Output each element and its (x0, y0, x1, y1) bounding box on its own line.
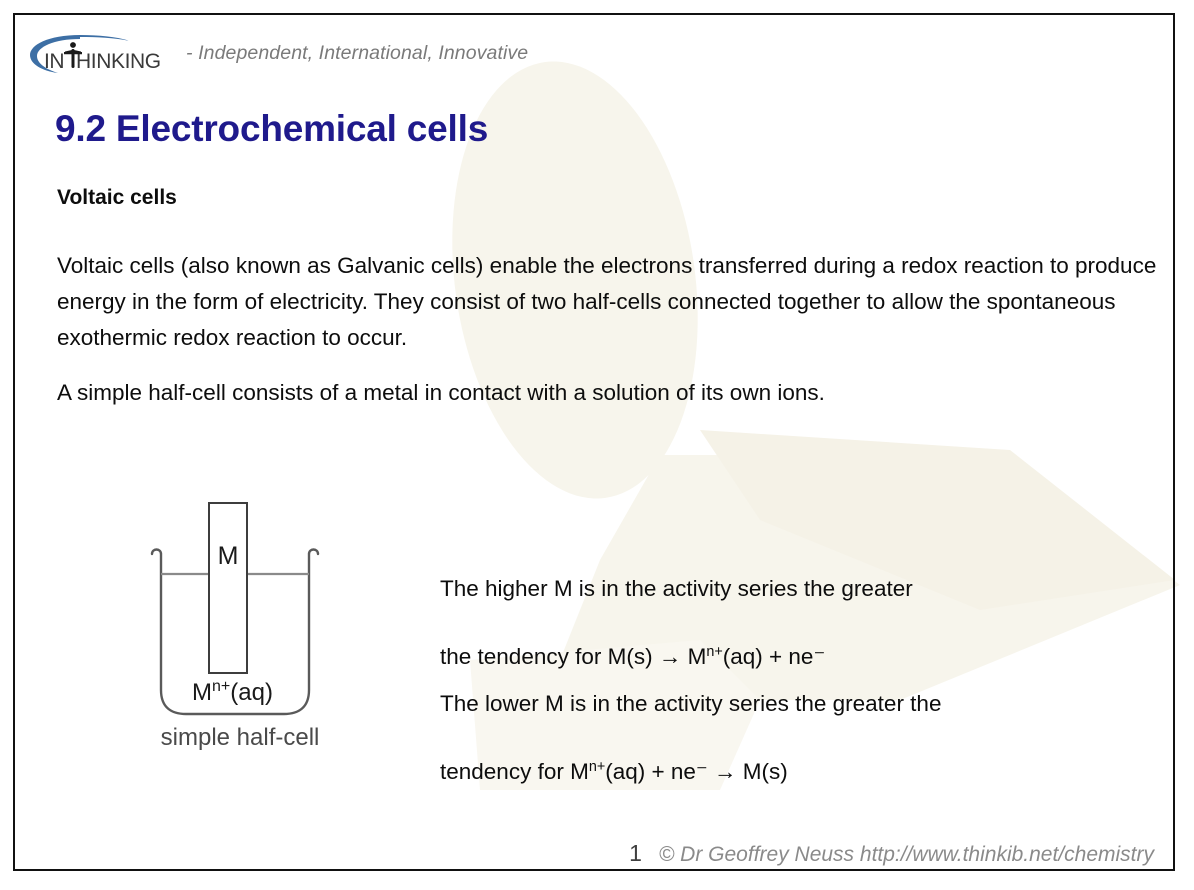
diagram-caption: simple half-cell (161, 724, 320, 751)
note2-line2-pre: tendency for M (440, 759, 589, 784)
svg-text:HINKING: HINKING (76, 50, 161, 73)
inthinking-logo[interactable]: IN HINKING (28, 30, 176, 76)
copyright-notice: © Dr Geoffrey Neuss http://www.thinkib.n… (659, 843, 1154, 867)
note2-line2: tendency for Mn+(aq) + ne⁻ → M(s) (440, 755, 1120, 789)
section-subheading: Voltaic cells (57, 186, 177, 210)
paragraph-half-cell: A simple half-cell consists of a metal i… (57, 375, 1162, 411)
svg-text:IN: IN (44, 50, 64, 73)
footer: 1 © Dr Geoffrey Neuss http://www.thinkib… (629, 840, 1154, 867)
note-lower-activity: The lower M is in the activity series th… (440, 653, 1120, 823)
electrode-label: M (218, 542, 239, 570)
note2-line1: The lower M is in the activity series th… (440, 687, 1120, 721)
solution-label: Mn+(aq) (192, 678, 273, 706)
paragraph-voltaic-cells: Voltaic cells (also known as Galvanic ce… (57, 248, 1162, 356)
slide-canvas: IN HINKING - Independent, International,… (0, 0, 1194, 890)
note1-line1: The higher M is in the activity series t… (440, 572, 1100, 606)
header: IN HINKING - Independent, International,… (28, 30, 528, 76)
half-cell-diagram: M Mn+(aq) simple half-cell (130, 492, 350, 757)
tagline: - Independent, International, Innovative (186, 42, 528, 65)
electrode-rectangle (209, 503, 247, 673)
note2-charge: n+ (589, 759, 605, 775)
page-title: 9.2 Electrochemical cells (55, 108, 488, 150)
page-number: 1 (629, 840, 642, 867)
note2-line2-post: (aq) + ne⁻ → M(s) (605, 759, 788, 784)
